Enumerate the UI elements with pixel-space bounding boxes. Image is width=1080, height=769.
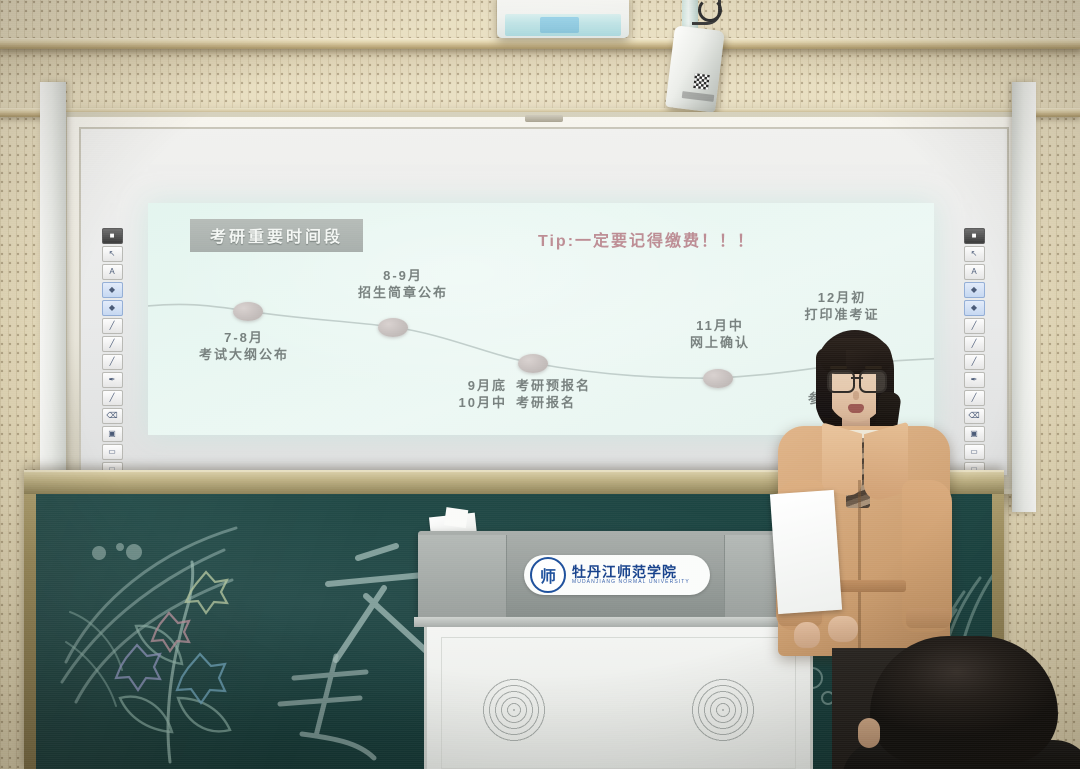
presenter-mouth — [848, 404, 864, 413]
university-seal-icon: 师 — [530, 557, 566, 593]
wall-camera-rig — [668, 0, 726, 114]
chalk-writing-kao — [280, 656, 374, 758]
pen-thin-icon[interactable]: ╱ — [102, 318, 123, 334]
marker-icon[interactable]: ╱ — [102, 354, 123, 370]
presenter-nose — [853, 391, 859, 400]
timeline-label-3-events: 考研预报名 考研报名 — [516, 377, 591, 411]
timeline-event-4: 网上确认 — [690, 334, 750, 351]
timeline-event-3b: 考研报名 — [516, 394, 591, 411]
timeline-date-2: 8-9月 — [383, 268, 423, 283]
timeline-date-5: 12月初 — [818, 290, 866, 305]
cursor-icon[interactable]: ↖ — [964, 246, 985, 262]
timeline-node-4 — [703, 369, 733, 388]
presenter-held-papers — [770, 490, 842, 614]
speaker-grille-left-icon — [482, 678, 546, 742]
qr-code-icon — [693, 73, 710, 90]
color-icon[interactable]: ▣ — [102, 426, 123, 442]
color-icon[interactable]: ▣ — [964, 426, 985, 442]
podium-panel — [441, 637, 796, 769]
podium-slab — [414, 617, 817, 627]
classroom-photo: ■↖A◆◆╱╱╱✒╱⌫▣▭□▦▤↶≡ ■↖A◆◆╱╱╱✒╱⌫▣▭□▦▤↶≡ 考研… — [0, 0, 1080, 769]
shape-icon[interactable]: ◆ — [102, 300, 123, 316]
student-foreground — [852, 636, 1080, 769]
text-icon[interactable]: A — [102, 264, 123, 280]
presenter-hand-left — [794, 622, 820, 648]
university-name-en: MUDANJIANG NORMAL UNIVERSITY — [572, 580, 690, 585]
eraser-icon[interactable]: ⌫ — [102, 408, 123, 424]
glasses-lens-right — [859, 370, 887, 393]
wall-recess-shadow — [0, 47, 1080, 109]
timeline-label-4: 11月中 网上确认 — [690, 317, 750, 351]
timeline-date-3b: 10月中 — [433, 394, 507, 411]
timeline-date-3a: 9月底 — [468, 378, 507, 393]
timeline-label-1: 7-8月 考试大纲公布 — [199, 329, 289, 363]
wall-trim-upper — [0, 38, 1080, 49]
timeline-event-2: 招生简章公布 — [358, 284, 448, 301]
timeline-event-5: 打印准考证 — [804, 306, 879, 323]
monitor-icon[interactable]: ▭ — [102, 444, 123, 460]
timeline-node-2 — [378, 318, 408, 337]
podium-top-left — [418, 535, 507, 619]
presenter-cuff-right — [906, 608, 950, 628]
student-ear — [858, 718, 880, 748]
glasses-lens-left — [827, 370, 855, 393]
presenter-belt — [836, 580, 906, 592]
lectern-podium: 师 牡丹江师范学院 MUDANJIANG NORMAL UNIVERSITY — [418, 531, 813, 769]
monitor-icon[interactable]: ▭ — [964, 444, 985, 460]
timeline-node-3 — [518, 354, 548, 373]
timeline-label-3-dates: 9月底 10月中 — [433, 377, 507, 411]
brush-icon[interactable]: ✒ — [964, 372, 985, 388]
select-icon[interactable]: ◆ — [964, 282, 985, 298]
podium-body — [424, 627, 813, 769]
pen-icon[interactable]: ╱ — [102, 336, 123, 352]
glasses-icon — [826, 370, 888, 390]
eraser-icon[interactable]: ⌫ — [964, 408, 985, 424]
cursor-icon[interactable]: ↖ — [102, 246, 123, 262]
wall-post-left — [40, 82, 66, 512]
speaker-grille-right-icon — [691, 678, 755, 742]
timeline-node-1 — [233, 302, 263, 321]
pen-icon[interactable]: ╱ — [964, 336, 985, 352]
presenter-collar-left — [822, 422, 862, 499]
timeline-date-1: 7-8月 — [224, 330, 264, 345]
chalk-flowers — [116, 572, 227, 703]
student-head — [870, 636, 1058, 764]
presenter-eyebrow-left — [830, 366, 847, 369]
timeline-label-5: 12月初 打印准考证 — [804, 289, 879, 323]
presenter-lapel-seam — [858, 480, 861, 652]
menu-icon[interactable]: ■ — [964, 228, 985, 244]
pen-thin-icon[interactable]: ╱ — [964, 318, 985, 334]
whiteboard-handle — [525, 115, 563, 122]
menu-icon[interactable]: ■ — [102, 228, 123, 244]
highlighter-icon[interactable]: ╱ — [964, 390, 985, 406]
shape-icon[interactable]: ◆ — [964, 300, 985, 316]
highlighter-icon[interactable]: ╱ — [102, 390, 123, 406]
university-logo: 师 牡丹江师范学院 MUDANJIANG NORMAL UNIVERSITY — [524, 555, 710, 595]
marker-icon[interactable]: ╱ — [964, 354, 985, 370]
presenter-eyebrow-right — [865, 366, 882, 369]
timeline-event-1: 考试大纲公布 — [199, 346, 289, 363]
text-icon[interactable]: A — [964, 264, 985, 280]
projector-lens — [505, 14, 621, 36]
chalk-grass-left — [62, 528, 236, 702]
brush-icon[interactable]: ✒ — [102, 372, 123, 388]
timeline-date-4: 11月中 — [696, 318, 744, 333]
university-name-cn: 牡丹江师范学院 — [572, 565, 690, 580]
timeline-event-3a: 考研预报名 — [516, 378, 591, 393]
timeline-label-2: 8-9月 招生简章公布 — [358, 267, 448, 301]
select-icon[interactable]: ◆ — [102, 282, 123, 298]
podium-top: 师 牡丹江师范学院 MUDANJIANG NORMAL UNIVERSITY — [418, 531, 813, 619]
ceiling-projector — [497, 0, 629, 38]
wall-post-right — [1012, 82, 1036, 512]
